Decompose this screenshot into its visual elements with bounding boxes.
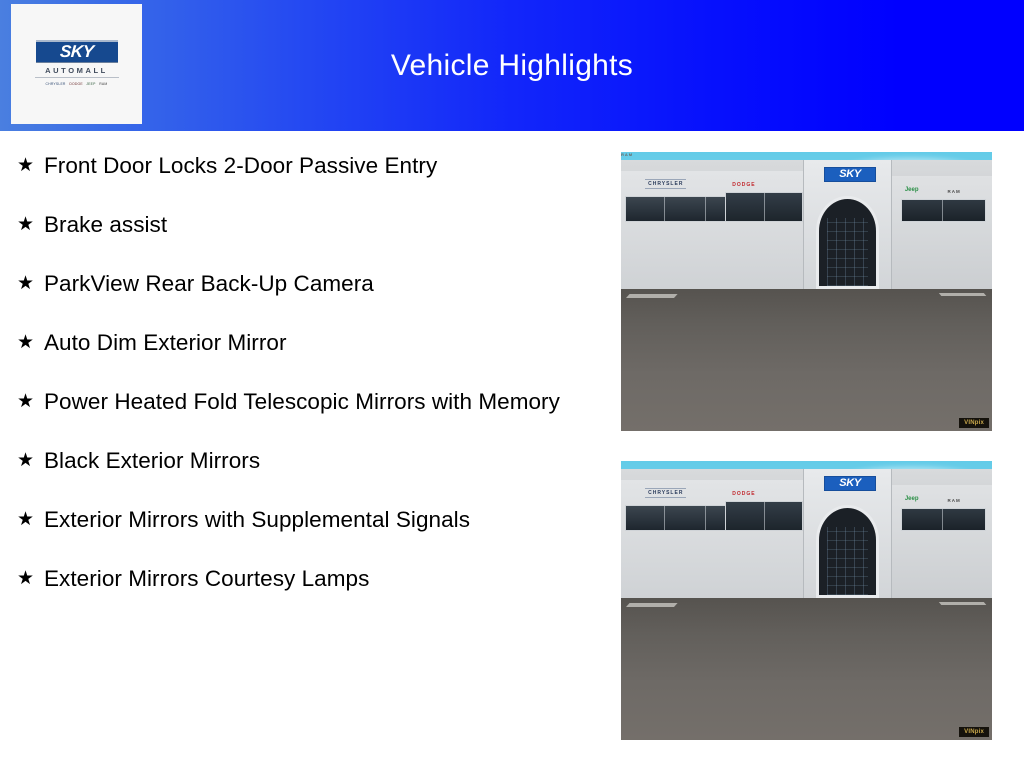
list-item: ★ Brake assist [12, 207, 604, 242]
truck-tailgate-badge: RAM [621, 152, 633, 157]
page-title: Vehicle Highlights [0, 0, 1024, 131]
vehicle-photo-front[interactable]: SKY CHRYSLER DODGE Jeep RAM VINpix [621, 461, 992, 740]
dodge-sign: DODGE [732, 182, 755, 188]
star-icon: ★ [12, 148, 44, 183]
sky-logo-text: SKY [59, 43, 94, 60]
parking-lot [621, 598, 992, 740]
building-right-wing [881, 485, 992, 598]
sky-building-sign: SKY [825, 477, 875, 490]
jeep-sign: Jeep [905, 187, 919, 193]
sky-building-sign: SKY [825, 168, 875, 181]
brand-chip-dodge: DODGE [70, 83, 83, 86]
chrysler-sign: CHRYSLER [645, 179, 686, 189]
list-item: ★ Exterior Mirrors Courtesy Lamps [12, 561, 604, 596]
arch-glass [827, 527, 868, 594]
star-icon: ★ [12, 384, 44, 419]
feature-label: Auto Dim Exterior Mirror [44, 325, 286, 360]
vehicle-features-list: ★ Front Door Locks 2-Door Passive Entry … [12, 148, 604, 596]
vehicle-highlights-slide: SKY AUTOMALL CHRYSLER DODGE JEEP RAM Veh… [0, 0, 1024, 768]
automall-subtitle: AUTOMALL [35, 66, 119, 78]
feature-label: Exterior Mirrors Courtesy Lamps [44, 561, 369, 596]
star-icon: ★ [12, 443, 44, 478]
building-right-wing [881, 176, 992, 289]
list-item: ★ Front Door Locks 2-Door Passive Entry [12, 148, 604, 183]
sky-logo-mark: SKY [36, 40, 118, 63]
jeep-sign: Jeep [905, 496, 919, 502]
feature-label: Front Door Locks 2-Door Passive Entry [44, 148, 437, 183]
vehicle-photo-rear[interactable]: SKY CHRYSLER DODGE Jeep RAM RAM VINpix [621, 152, 992, 431]
brand-chip-jeep: JEEP [87, 83, 96, 86]
lot-stripe [627, 603, 678, 607]
entry-arch [816, 196, 879, 288]
brand-strip: CHRYSLER DODGE JEEP RAM [34, 81, 120, 89]
list-item: ★ ParkView Rear Back-Up Camera [12, 266, 604, 301]
lot-stripe [939, 602, 986, 605]
feature-label: Brake assist [44, 207, 167, 242]
storefront-glass-mid [725, 192, 803, 222]
lot-stripe [627, 294, 678, 298]
storefront-glass-right [901, 508, 986, 531]
storefront-glass-mid [725, 501, 803, 531]
feature-label: Black Exterior Mirrors [44, 443, 260, 478]
feature-label: ParkView Rear Back-Up Camera [44, 266, 374, 301]
entry-arch [816, 505, 879, 597]
dodge-sign: DODGE [732, 491, 755, 497]
list-item: ★ Auto Dim Exterior Mirror [12, 325, 604, 360]
photo-watermark: VINpix [959, 418, 989, 428]
dealer-logo[interactable]: SKY AUTOMALL CHRYSLER DODGE JEEP RAM [11, 4, 142, 124]
brand-chip-ram: RAM [99, 83, 107, 86]
star-icon: ★ [12, 502, 44, 537]
parking-lot [621, 289, 992, 431]
feature-label: Exterior Mirrors with Supplemental Signa… [44, 502, 470, 537]
ram-sign: RAM [947, 189, 960, 194]
list-item: ★ Power Heated Fold Telescopic Mirrors w… [12, 384, 604, 419]
star-icon: ★ [12, 561, 44, 596]
dealer-logo-inner: SKY AUTOMALL CHRYSLER DODGE JEEP RAM [25, 40, 129, 89]
brand-chip-chrysler: CHRYSLER [46, 83, 66, 86]
feature-label: Power Heated Fold Telescopic Mirrors wit… [44, 384, 560, 419]
star-icon: ★ [12, 266, 44, 301]
list-item: ★ Exterior Mirrors with Supplemental Sig… [12, 502, 604, 537]
slide-header: SKY AUTOMALL CHRYSLER DODGE JEEP RAM Veh… [0, 0, 1024, 131]
dealership-building: SKY CHRYSLER DODGE Jeep RAM [621, 160, 992, 288]
chrysler-sign: CHRYSLER [645, 488, 686, 498]
photo-watermark: VINpix [959, 727, 989, 737]
ram-sign: RAM [947, 498, 960, 503]
storefront-glass-right [901, 199, 986, 222]
dealership-building: SKY CHRYSLER DODGE Jeep RAM [621, 469, 992, 597]
star-icon: ★ [12, 207, 44, 242]
arch-glass [827, 218, 868, 285]
star-icon: ★ [12, 325, 44, 360]
lot-stripe [939, 293, 986, 296]
list-item: ★ Black Exterior Mirrors [12, 443, 604, 478]
